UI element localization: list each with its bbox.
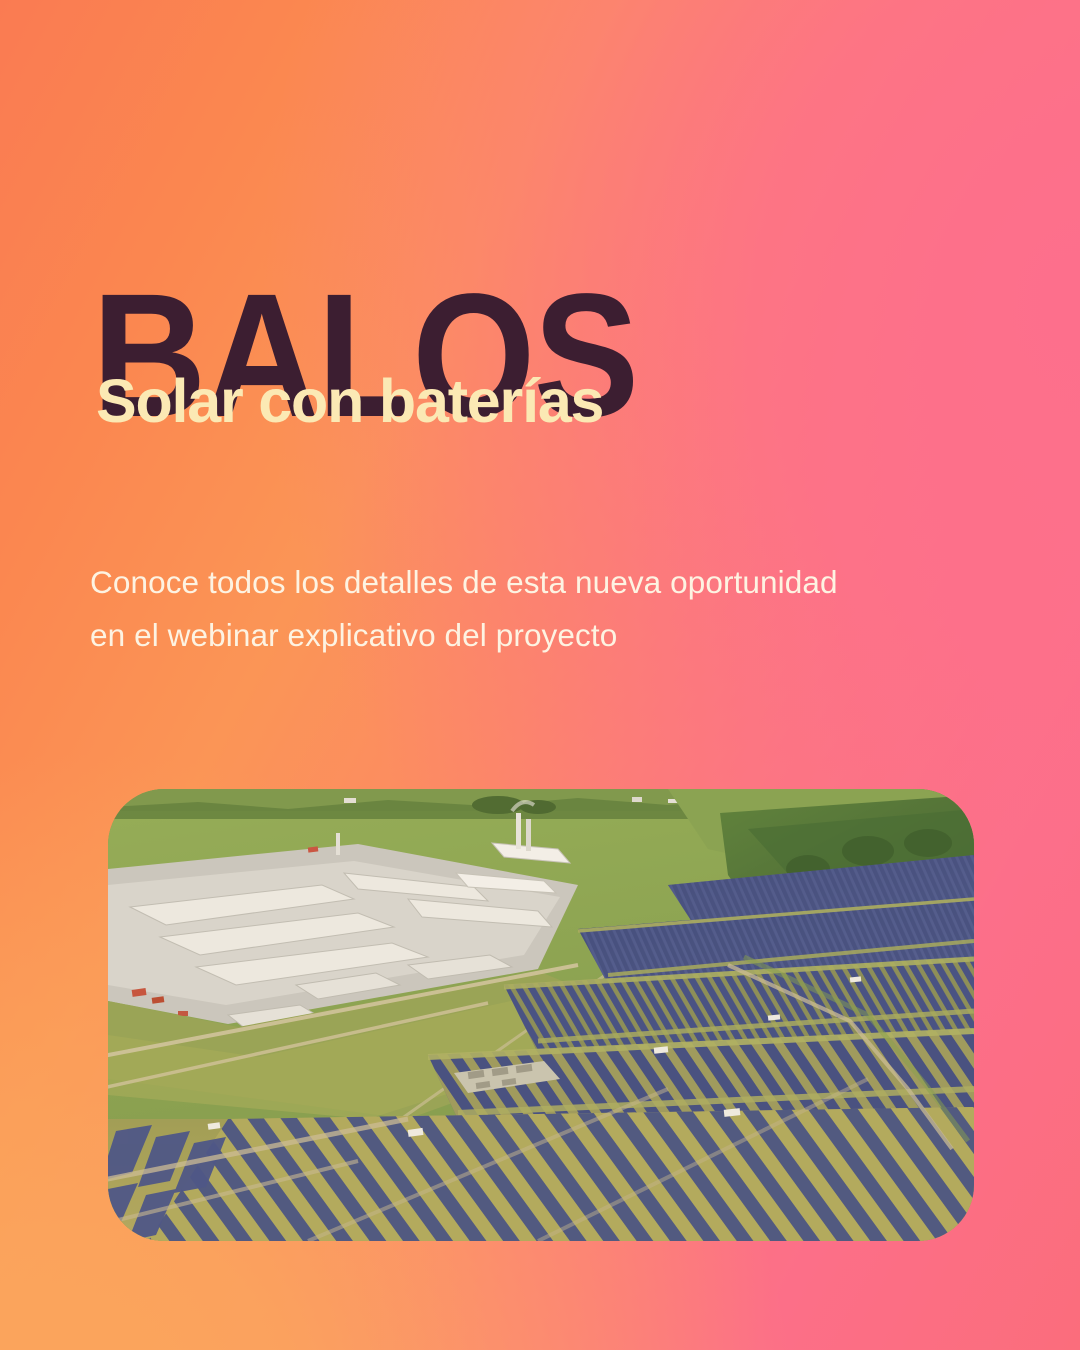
page-subtitle: Solar con baterías bbox=[96, 371, 996, 432]
lede-line-2: en el webinar explicativo del proyecto bbox=[90, 609, 970, 662]
headline-block: BALOS Solar con baterías bbox=[92, 286, 992, 488]
promo-poster: BALOS Solar con baterías Conoce todos lo… bbox=[0, 0, 1080, 1350]
solar-farm-photo bbox=[108, 789, 974, 1241]
lede-line-1: Conoce todos los detalles de esta nueva … bbox=[90, 556, 970, 609]
solar-farm-illustration bbox=[108, 789, 974, 1241]
lede-paragraph: Conoce todos los detalles de esta nueva … bbox=[90, 556, 970, 662]
